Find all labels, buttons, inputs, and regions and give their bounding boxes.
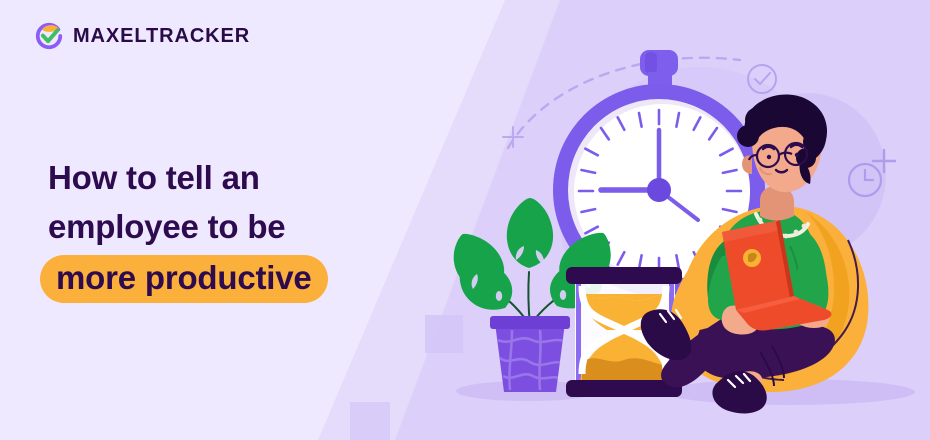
hourglass-cap-top xyxy=(566,267,682,284)
page-title: How to tell an employee to be more produ… xyxy=(48,153,378,303)
headline-line-2: employee to be xyxy=(48,202,378,251)
headline-line-3-highlighted: more productive xyxy=(40,255,328,303)
promo-banner: MAXELTRACKER How to tell an employee to … xyxy=(0,0,930,440)
decorative-square-1 xyxy=(425,315,463,353)
maxeltracker-check-circle-icon xyxy=(34,21,64,51)
plant-pot-rim xyxy=(490,316,570,329)
headline-line-1: How to tell an xyxy=(48,153,378,202)
brand-name: MAXELTRACKER xyxy=(73,26,250,46)
plant-pot xyxy=(495,323,565,392)
brand-logo[interactable]: MAXELTRACKER xyxy=(34,21,250,51)
decorative-square-2 xyxy=(350,402,390,440)
